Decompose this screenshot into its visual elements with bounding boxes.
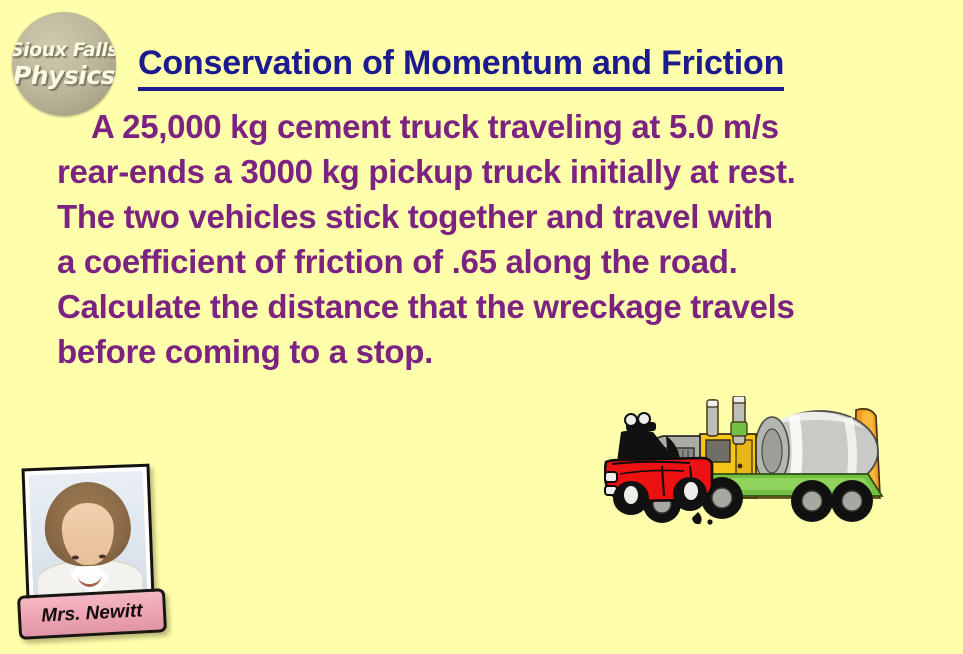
problem-line-4: a coefficient of friction of .65 along t… — [57, 239, 957, 284]
pickup-headlight-upper — [605, 472, 617, 482]
problem-line-3: The two vehicles stick together and trav… — [57, 194, 957, 239]
logo-line-physics: Physics — [13, 63, 115, 88]
problem-line-2: rear-ends a 3000 kg pickup truck initial… — [57, 149, 957, 194]
teacher-credit: Mrs. Newitt — [18, 466, 188, 646]
teacher-photo — [21, 464, 154, 603]
teacher-name-label: Mrs. Newitt — [41, 600, 143, 627]
problem-line-1: A 25,000 kg cement truck traveling at 5.… — [57, 104, 957, 149]
slide-canvas: Sioux Falls Physics Conservation of Mome… — [0, 0, 963, 654]
problem-line-5: Calculate the distance that the wreckage… — [57, 284, 957, 329]
red-pickup-truck — [605, 413, 712, 515]
sioux-falls-physics-logo: Sioux Falls Physics — [12, 12, 116, 116]
logo-line-sioux-falls: Sioux Falls — [12, 41, 116, 60]
portrait-eye-left — [72, 555, 79, 559]
pickup-roof-lights — [625, 413, 656, 431]
teacher-nameplate: Mrs. Newitt — [17, 588, 167, 640]
problem-line-6: before coming to a stop. — [57, 329, 957, 374]
teacher-photo-image — [29, 471, 148, 595]
page-title: Conservation of Momentum and Friction — [138, 44, 784, 91]
problem-statement: A 25,000 kg cement truck traveling at 5.… — [57, 104, 957, 374]
trucks-collision-graphic — [604, 396, 956, 546]
crash-illustration — [604, 396, 956, 546]
